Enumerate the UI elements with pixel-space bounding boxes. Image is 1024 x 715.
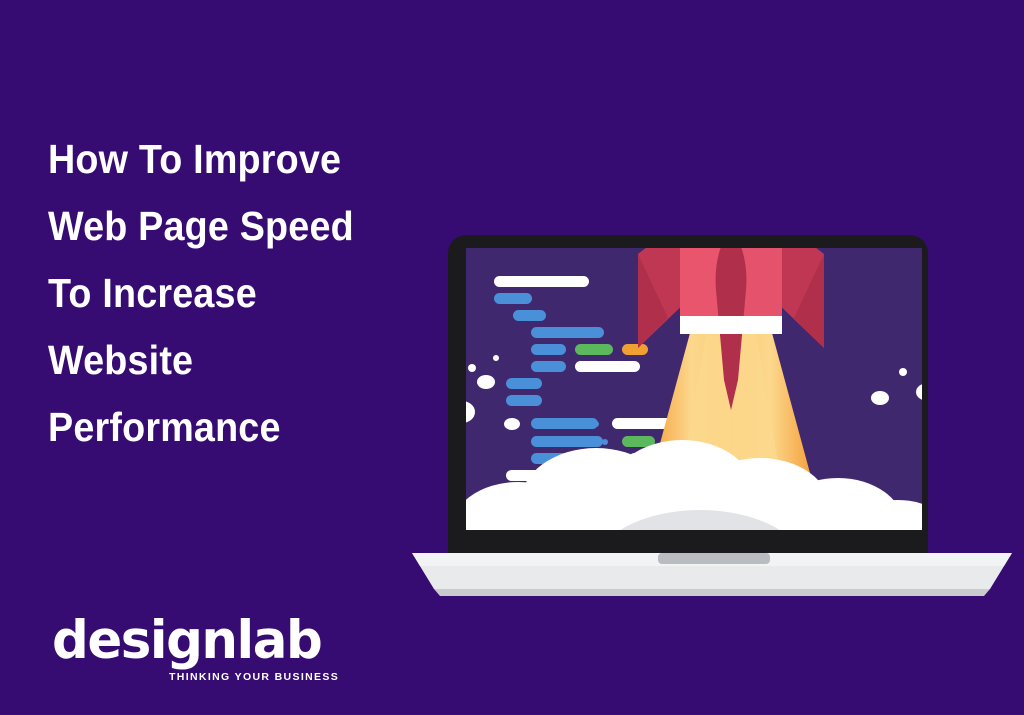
rocket-laptop-illustration bbox=[400, 80, 1024, 600]
headline-line-1: How To Improve bbox=[48, 126, 379, 193]
logo-wordmark: designlab bbox=[52, 612, 321, 670]
headline-line-4: Website bbox=[48, 327, 379, 394]
laptop-trackpad-notch bbox=[658, 553, 770, 564]
laptop-base bbox=[412, 553, 1012, 596]
brand-logo: designlab THINKING YOUR BUSINESS bbox=[52, 612, 312, 694]
rocket-porthole-icon bbox=[694, 150, 768, 224]
headline-line-2: Web Page Speed bbox=[48, 193, 379, 260]
promo-banner: How To Improve Web Page Speed To Increas… bbox=[0, 0, 1024, 715]
headline-line-5: Performance bbox=[48, 394, 379, 461]
page-title: How To Improve Web Page Speed To Increas… bbox=[48, 126, 408, 461]
logo-tagline: THINKING YOUR BUSINESS bbox=[169, 671, 339, 683]
headline-line-3: To Increase bbox=[48, 260, 379, 327]
